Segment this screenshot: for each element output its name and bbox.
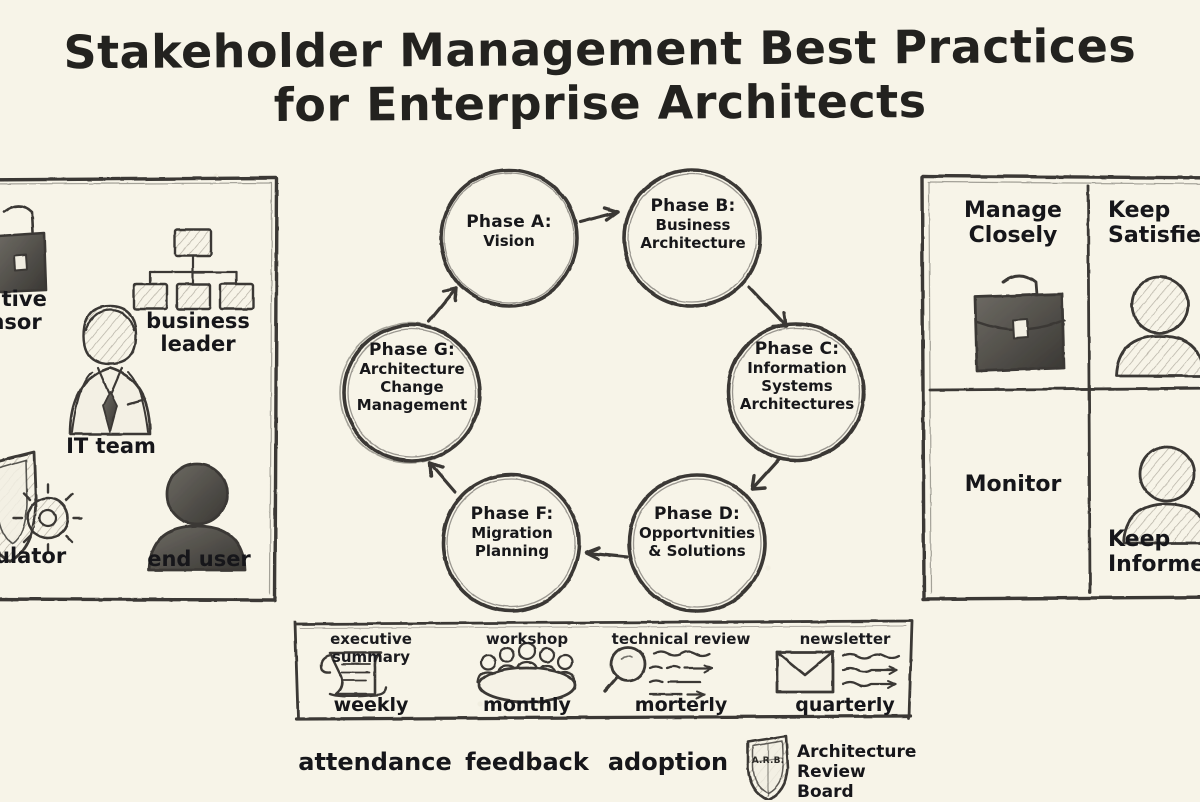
comm-cadence-quarterly: quarterly (779, 694, 911, 716)
quadrant-label-keep-satisfied: Keep Satisfie (1108, 198, 1200, 249)
phase-b-label: Phase B: Business Architecture (630, 196, 756, 252)
metric-feedback: feedback (460, 748, 594, 776)
phase-c-label: Phase C: Information Systems Architectur… (731, 339, 863, 413)
page-title: Stakeholder Management Best Practices fo… (0, 18, 1200, 134)
stakeholder-label-regulator: gulator (0, 545, 90, 568)
quadrant-label-manage-closely: Manage Closely (946, 198, 1080, 249)
phase-g-label: Phase G: Architecture Change Management (347, 340, 477, 414)
stakeholder-label-end-user: end user (137, 548, 261, 571)
quadrant-label-keep-informed: Keep Informe (1108, 527, 1200, 578)
stakeholder-label-executive-sponsor: ecutive ponsor (0, 288, 100, 334)
phase-f-label: Phase F: Migration Planning (452, 504, 572, 560)
page-title-line2: for Enterprise Architects (0, 73, 1200, 135)
arb-label-line2: Review Board (797, 762, 927, 802)
comm-cadence-morterly: morterly (613, 694, 749, 716)
phase-d-label: Phase D: Opportvnities & Solutions (632, 504, 762, 560)
metric-attendance: attendance (295, 748, 455, 776)
arb-badge-label: Architecture Review Board (797, 742, 927, 802)
arb-badge-abbreviation: A.R.B. (748, 756, 788, 766)
comm-type-newsletter: newsletter (783, 630, 907, 648)
metric-adoption: adoption (604, 748, 732, 776)
comm-type-technical-review: technical review (609, 630, 753, 648)
page-title-line1: Stakeholder Management Best Practices (0, 18, 1200, 80)
stakeholder-label-business-leader: business leader (138, 310, 258, 356)
text-layer: Stakeholder Management Best Practices fo… (0, 0, 1200, 800)
comm-cadence-monthly: monthly (464, 694, 590, 716)
quadrant-label-monitor: Monitor (946, 472, 1080, 497)
arb-label-line1: Architecture (797, 742, 927, 762)
comm-type-executive-summary: executive summary (295, 630, 447, 666)
comm-cadence-weekly: weekly (297, 694, 445, 716)
comm-type-workshop: workshop (466, 630, 588, 648)
phase-a-label: Phase A: Vision (449, 212, 569, 250)
stakeholder-label-it-team: IT team (50, 435, 172, 458)
